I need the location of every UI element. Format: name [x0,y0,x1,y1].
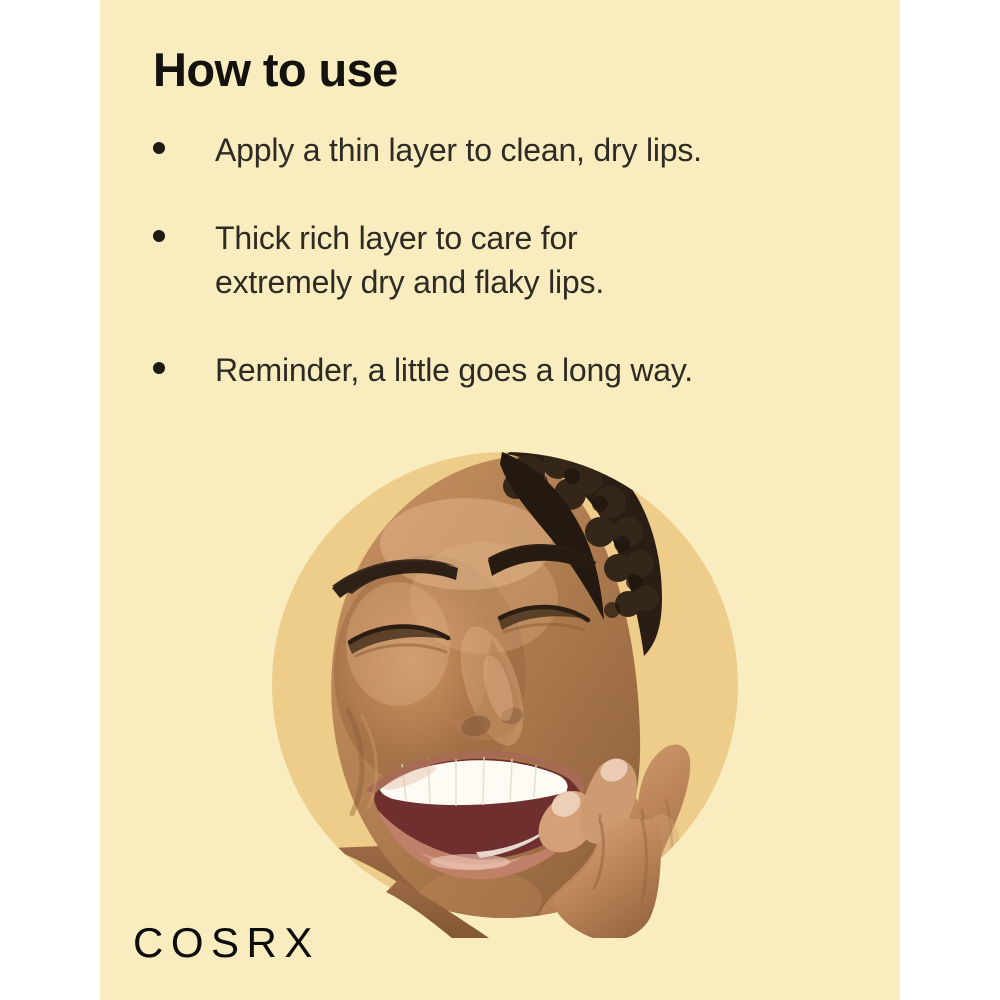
bullet-dot-icon [153,230,165,242]
model-photo [270,448,760,938]
instruction-line-2: extremely dry and flaky lips. [215,260,853,304]
product-info-card: How to use Apply a thin layer to clean, … [0,0,1000,1000]
instruction-text: Apply a thin layer to clean, dry lips. [215,128,853,172]
instruction-text: Thick rich layer to care for extremely d… [215,216,853,304]
list-item: Apply a thin layer to clean, dry lips. [153,128,853,172]
list-item: Reminder, a little goes a long way. [153,348,853,392]
bullet-dot-icon [153,362,165,374]
instruction-line-1: Reminder, a little goes a long way. [215,352,693,388]
bullet-dot-icon [153,142,165,154]
instruction-text: Reminder, a little goes a long way. [215,348,853,392]
page-title: How to use [153,44,398,96]
instruction-list: Apply a thin layer to clean, dry lips. T… [153,128,853,393]
list-item: Thick rich layer to care for extremely d… [153,216,853,304]
instruction-line-1: Apply a thin layer to clean, dry lips. [215,132,702,168]
instruction-line-1: Thick rich layer to care for [215,220,578,256]
brand-logo: COSRX [133,922,320,964]
